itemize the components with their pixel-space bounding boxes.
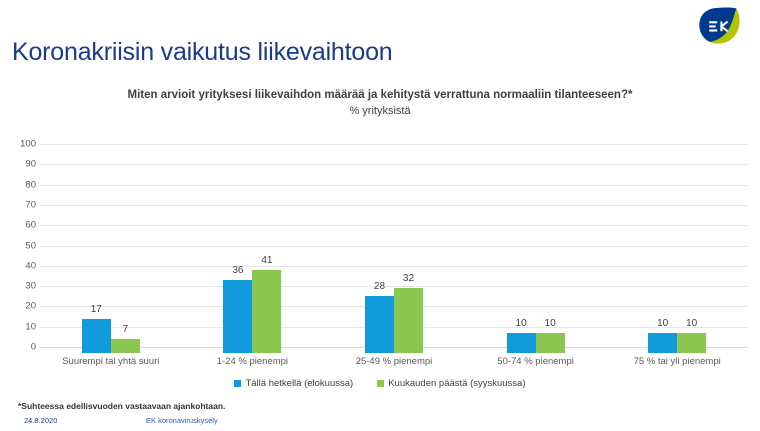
chart-title-block: Miten arvioit yrityksesi liikevaihdon mä…	[90, 88, 670, 117]
chart-subtitle: % yrityksistä	[90, 105, 670, 117]
bar[interactable]: 10	[536, 333, 565, 353]
bar[interactable]: 41	[252, 270, 281, 353]
legend-label: Tällä hetkellä (elokuussa)	[245, 378, 353, 389]
y-axis-tick: 50	[2, 240, 36, 251]
ek-logo	[696, 6, 742, 46]
bar-group: 1010	[465, 144, 607, 353]
y-axis-tick: 70	[2, 199, 36, 210]
bar-value-label: 10	[648, 318, 677, 329]
y-axis-tick: 60	[2, 220, 36, 231]
chart-bars: 1773641283210101010	[40, 144, 748, 353]
legend-swatch	[234, 380, 241, 387]
bar-slot: 28	[365, 144, 394, 353]
x-axis-label: 50-74 % pienempi	[465, 356, 607, 367]
legend-swatch	[377, 380, 384, 387]
x-axis-label: 75 % tai yli pienempi	[606, 356, 748, 367]
bar-value-label: 36	[223, 265, 252, 276]
bar-value-label: 10	[507, 318, 536, 329]
page-title: Koronakriisin vaikutus liikevaihtoon	[12, 38, 393, 67]
bar-group: 177	[40, 144, 182, 353]
legend-item[interactable]: Tällä hetkellä (elokuussa)	[234, 378, 353, 389]
x-axis-label: 1-24 % pienempi	[182, 356, 324, 367]
x-axis-label: 25-49 % pienempi	[323, 356, 465, 367]
bar-value-label: 32	[394, 273, 423, 284]
bar-slot: 10	[677, 144, 706, 353]
chart-plot-area: 1009080706050403020100 17736412832101010…	[0, 144, 760, 359]
bar-slot: 10	[648, 144, 677, 353]
y-axis-tick: 80	[2, 179, 36, 190]
y-axis-tick: 90	[2, 159, 36, 170]
bar[interactable]: 36	[223, 280, 252, 353]
chart-title: Miten arvioit yrityksesi liikevaihdon mä…	[90, 88, 670, 103]
slide-header: Koronakriisin vaikutus liikevaihtoon	[0, 0, 760, 76]
bar-slot: 41	[252, 144, 281, 353]
bar-slot: 7	[111, 144, 140, 353]
bar-slot: 36	[223, 144, 252, 353]
bar-group: 3641	[182, 144, 324, 353]
bar-slot: 17	[82, 144, 111, 353]
x-axis-labels: Suurempi tai yhtä suuri1-24 % pienempi25…	[40, 356, 748, 367]
bar-group: 1010	[606, 144, 748, 353]
bar-value-label: 28	[365, 281, 394, 292]
legend-label: Kuukauden päästä (syyskuussa)	[388, 378, 525, 389]
bar-group: 2832	[323, 144, 465, 353]
bar[interactable]: 10	[648, 333, 677, 353]
bar-value-label: 41	[252, 255, 281, 266]
bar[interactable]: 17	[82, 319, 111, 354]
chart-legend: Tällä hetkellä (elokuussa)Kuukauden pääs…	[0, 378, 760, 389]
footer-link[interactable]: EK koronaviruskysely	[146, 416, 218, 425]
bar-value-label: 7	[111, 324, 140, 335]
bar-value-label: 10	[677, 318, 706, 329]
y-axis: 1009080706050403020100	[0, 144, 36, 353]
y-axis-tick: 100	[2, 139, 36, 150]
bar[interactable]: 10	[677, 333, 706, 353]
bar-value-label: 17	[82, 304, 111, 315]
bar-slot: 10	[536, 144, 565, 353]
y-axis-tick: 0	[2, 342, 36, 353]
bar[interactable]: 32	[394, 288, 423, 353]
y-axis-tick: 40	[2, 260, 36, 271]
bar[interactable]: 28	[365, 296, 394, 353]
footer-date: 24.8.2020	[24, 416, 57, 425]
bar-slot: 32	[394, 144, 423, 353]
legend-item[interactable]: Kuukauden päästä (syyskuussa)	[377, 378, 525, 389]
y-axis-tick: 30	[2, 281, 36, 292]
x-axis-label: Suurempi tai yhtä suuri	[40, 356, 182, 367]
footer-bar: 24.8.2020 EK koronaviruskysely	[0, 414, 760, 431]
y-axis-tick: 20	[2, 301, 36, 312]
bar[interactable]: 7	[111, 339, 140, 353]
bar-value-label: 10	[536, 318, 565, 329]
bar-slot: 10	[507, 144, 536, 353]
bar[interactable]: 10	[507, 333, 536, 353]
y-axis-tick: 10	[2, 321, 36, 332]
footnote: *Suhteessa edellisvuoden vastaavaan ajan…	[18, 401, 225, 411]
